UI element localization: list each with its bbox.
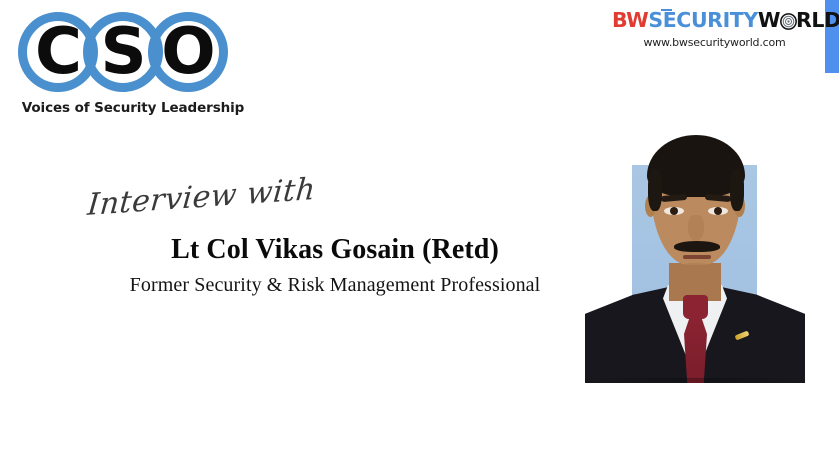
bw-brand-world-post: RLD — [796, 8, 839, 32]
portrait-eye-left — [664, 207, 684, 215]
portrait-hair-side-right — [730, 169, 744, 211]
guest-portrait-photo — [585, 117, 805, 383]
fingerprint-icon — [780, 13, 797, 30]
bw-brand-prefix: BW — [612, 8, 648, 32]
guest-name-block: Lt Col Vikas Gosain (Retd) Former Securi… — [90, 234, 580, 297]
bw-website-url[interactable]: www.bwsecurityworld.com — [612, 36, 817, 49]
cso-logo[interactable]: C S O Voices of Security Leadership — [18, 8, 243, 118]
bw-brand-security-text: SECURITY — [648, 8, 758, 32]
interview-with-script-label: Interview with — [86, 172, 317, 223]
portrait-eye-right — [708, 207, 728, 215]
macron-accent-icon — [661, 9, 672, 11]
cso-tagline: Voices of Security Leadership — [22, 100, 244, 116]
bw-brand-security: SECURITY — [648, 8, 758, 32]
portrait-moustache — [674, 241, 720, 252]
cso-letter-o: O — [148, 12, 228, 92]
portrait-chin — [673, 263, 717, 275]
bw-wordmark: BWSECURITYW RLD — [612, 10, 817, 32]
portrait-drop-shadow — [595, 378, 795, 383]
portrait-inner — [585, 117, 805, 383]
portrait-mouth — [683, 255, 711, 259]
portrait-tie — [684, 315, 707, 383]
guest-name: Lt Col Vikas Gosain (Retd) — [90, 234, 580, 266]
bw-security-world-logo[interactable]: BWSECURITYW RLD www.bwsecurityworld.com — [612, 10, 817, 49]
guest-title: Former Security & Risk Management Profes… — [90, 274, 580, 297]
bw-brand-world-pre: W — [758, 8, 780, 32]
cso-rings: C S O — [18, 8, 243, 94]
slide-canvas: C S O Voices of Security Leadership BWSE… — [0, 0, 839, 467]
portrait-nose — [688, 215, 704, 241]
portrait-hair-side-left — [648, 169, 662, 211]
cso-tagline-row: Voices of Security Leadership — [20, 100, 246, 116]
